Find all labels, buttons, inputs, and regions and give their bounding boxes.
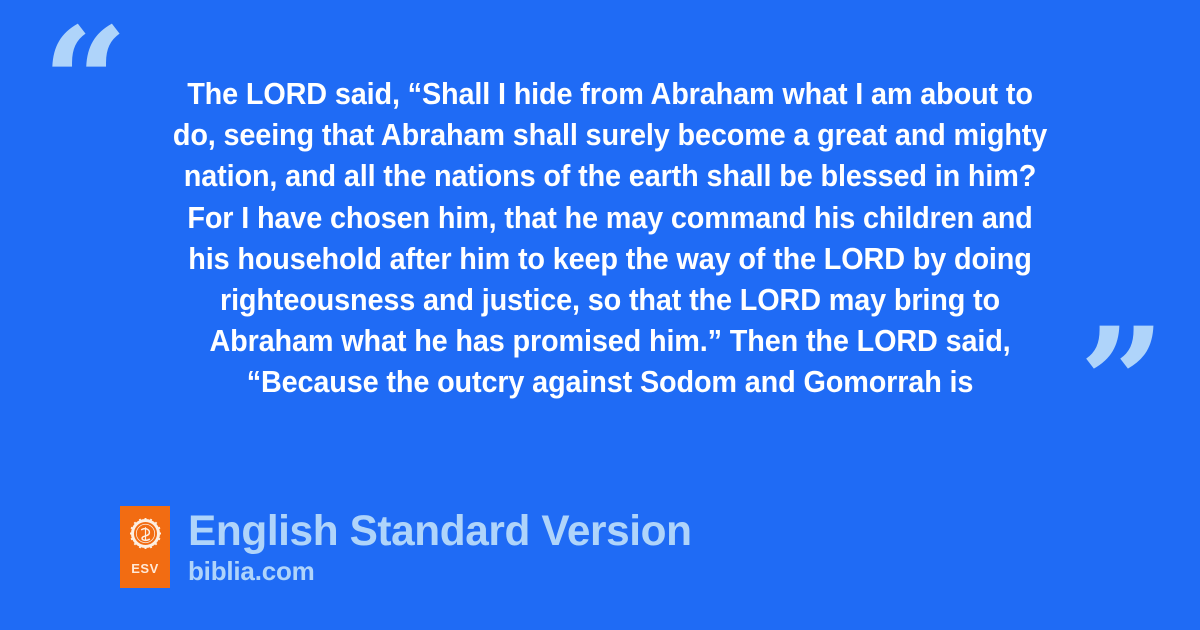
scripture-quote-text: The LORD said, “Shall I hide from Abraha…	[110, 74, 1110, 404]
brand-footer: ESV English Standard Version biblia.com	[120, 506, 699, 588]
quote-line: do, seeing that Abraham shall surely bec…	[138, 115, 1083, 156]
quote-line: The LORD said, “Shall I hide from Abraha…	[138, 74, 1083, 115]
quote-line: “Because the outcry against Sodom and Go…	[138, 362, 1083, 403]
esv-seal-icon	[130, 518, 161, 549]
quote-line: his household after him to keep the way …	[138, 239, 1083, 280]
brand-text-group: English Standard Version biblia.com	[188, 506, 699, 586]
site-url[interactable]: biblia.com	[188, 556, 699, 586]
esv-logo-label: ESV	[131, 562, 159, 575]
esv-logo: ESV	[120, 506, 170, 588]
quote-card: “ ” The LORD said, “Shall I hide from Ab…	[0, 0, 1200, 630]
quote-line: Abraham what he has promised him.” Then …	[138, 321, 1083, 362]
quote-line: nation, and all the nations of the earth…	[138, 156, 1083, 197]
bible-version-title: English Standard Version	[188, 507, 692, 555]
quote-line: righteousness and justice, so that the L…	[138, 280, 1083, 321]
quote-line: For I have chosen him, that he may comma…	[138, 198, 1083, 239]
